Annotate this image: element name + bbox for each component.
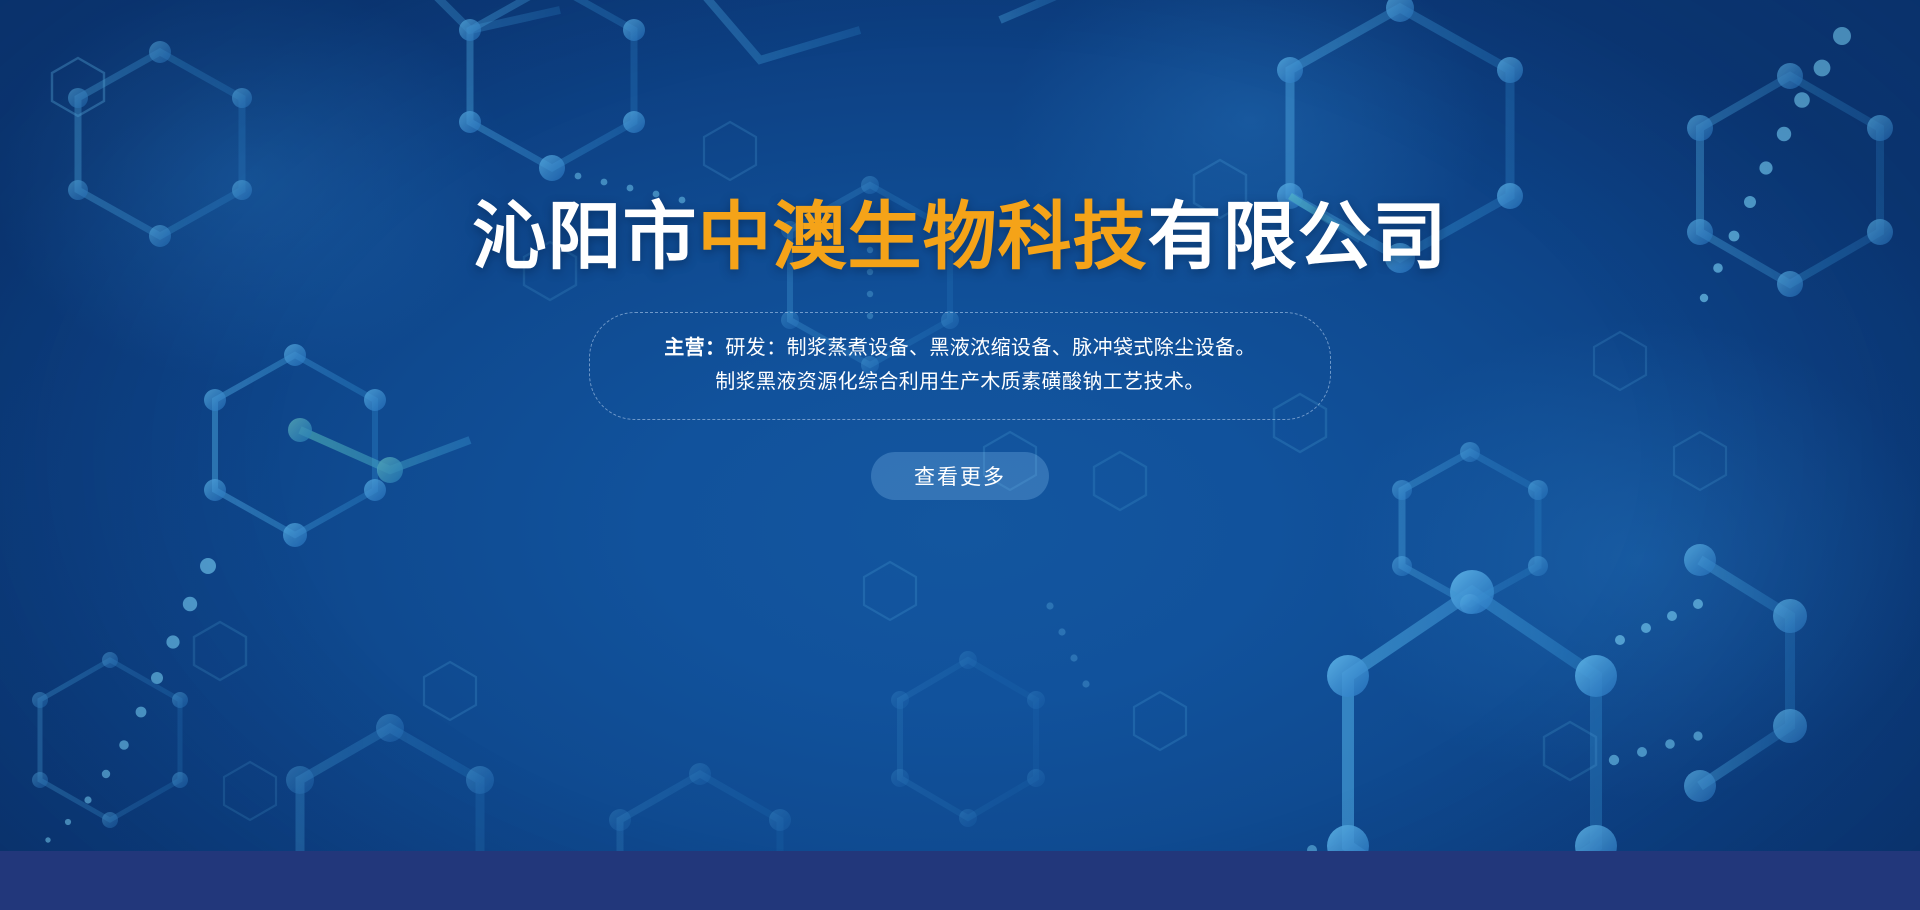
business-scope-line-1-text: 研发：制浆蒸煮设备、黑液浓缩设备、脉冲袋式除尘设备。 [725,337,1255,359]
page-title-suffix: 有限公司 [1148,195,1448,278]
business-scope-box: 主营：研发：制浆蒸煮设备、黑液浓缩设备、脉冲袋式除尘设备。 制浆黑液资源化综合利… [589,312,1331,420]
business-scope-label: 主营： [664,337,725,359]
page-title-accent: 中澳生物科技 [698,195,1148,278]
business-scope-line-2: 制浆黑液资源化综合利用生产木质素磺酸钠工艺技术。 [624,365,1296,399]
banner-stage: 沁阳市中澳生物科技有限公司 主营：研发：制浆蒸煮设备、黑液浓缩设备、脉冲袋式除尘… [0,0,1920,910]
page-title-prefix: 沁阳市 [473,195,698,278]
business-scope-line-1: 主营：研发：制浆蒸煮设备、黑液浓缩设备、脉冲袋式除尘设备。 [624,331,1296,365]
hero-section: 沁阳市中澳生物科技有限公司 主营：研发：制浆蒸煮设备、黑液浓缩设备、脉冲袋式除尘… [0,0,1920,851]
bottom-bar [0,851,1920,910]
page-title: 沁阳市中澳生物科技有限公司 [473,198,1448,276]
view-more-button[interactable]: 查看更多 [871,452,1049,500]
